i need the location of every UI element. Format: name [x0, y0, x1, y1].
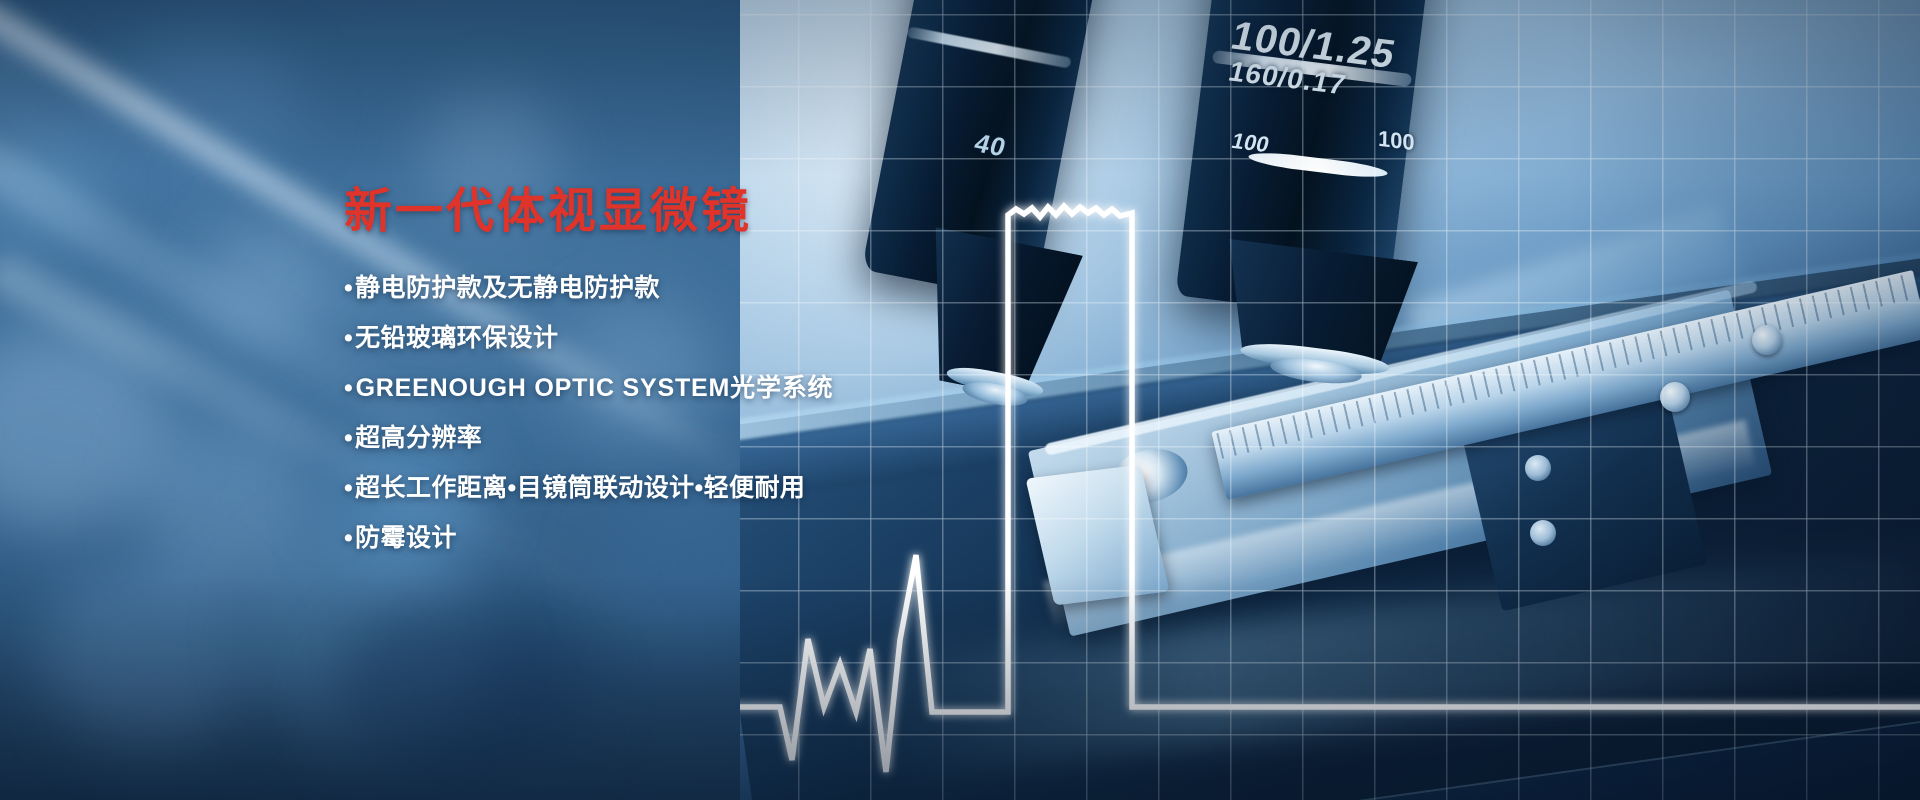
bullet-marker-icon: • [344, 274, 353, 302]
feature-text: 超高分辨率 [355, 424, 482, 452]
hero-banner: 40 100/1.25 160/0.17 100 100 [0, 0, 1920, 800]
list-item: •防霉设计 [344, 526, 1064, 551]
page-title: 新一代体视显微镜 [344, 188, 1064, 236]
bullet-marker-icon: • [344, 374, 354, 402]
feature-text: 防霉设计 [355, 524, 457, 552]
bullet-marker-icon: • [344, 474, 353, 502]
list-item: •无铅玻璃环保设计 [344, 326, 1064, 351]
bullet-marker-icon: • [344, 524, 353, 552]
list-item: •超高分辨率 [344, 426, 1064, 451]
bullet-marker-icon: • [344, 324, 353, 352]
feature-text: GREENOUGH OPTIC SYSTEM光学系统 [356, 374, 834, 402]
list-item: •超长工作距离•目镜筒联动设计•轻便耐用 [344, 476, 1064, 501]
feature-list: •静电防护款及无静电防护款 •无铅玻璃环保设计 •GREENOUGH OPTIC… [344, 276, 1064, 551]
banner-copy: 新一代体视显微镜 •静电防护款及无静电防护款 •无铅玻璃环保设计 •GREENO… [344, 188, 1064, 576]
list-item: •静电防护款及无静电防护款 [344, 276, 1064, 301]
bullet-marker-icon: • [344, 424, 353, 452]
feature-text: 超长工作距离•目镜筒联动设计•轻便耐用 [355, 474, 805, 502]
feature-text: 静电防护款及无静电防护款 [355, 274, 660, 302]
feature-text: 无铅玻璃环保设计 [355, 324, 558, 352]
list-item: •GREENOUGH OPTIC SYSTEM光学系统 [344, 376, 1064, 401]
